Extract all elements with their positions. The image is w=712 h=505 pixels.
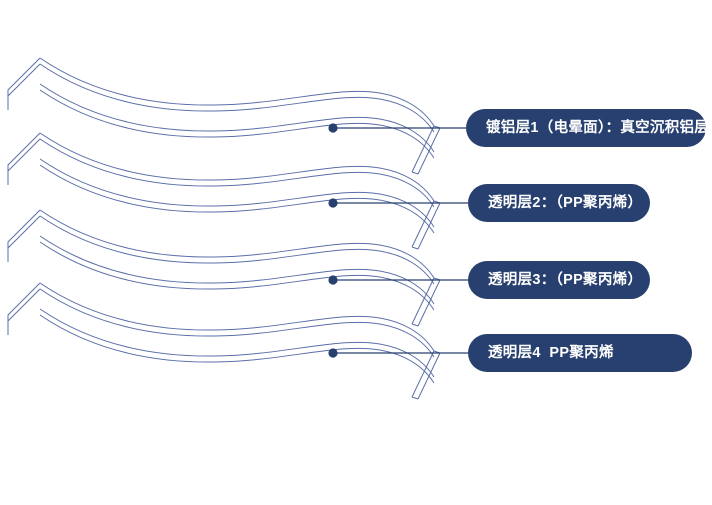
layer-label-1-text: 镀铝层1（电晕面）：真空沉积铝层: [486, 121, 709, 136]
layer-sheet-3: [8, 210, 440, 326]
connector-dot-1[interactable]: [328, 123, 337, 132]
connector-dot-4[interactable]: [328, 348, 337, 357]
layer-stack-illustration: [0, 0, 712, 505]
layer-label-2-text: 透明层2：（PP聚丙烯）: [488, 196, 642, 211]
layer-sheet-2: [8, 133, 440, 249]
layer-sheet-1: [8, 58, 440, 174]
layer-label-2[interactable]: 透明层2：（PP聚丙烯）: [468, 184, 650, 222]
layer-label-4[interactable]: 透明层4 PP聚丙烯: [468, 334, 692, 372]
layer-label-3-text: 透明层3：（PP聚丙烯）: [488, 273, 642, 288]
layer-label-1[interactable]: 镀铝层1（电晕面）：真空沉积铝层: [466, 109, 706, 147]
layer-label-3[interactable]: 透明层3：（PP聚丙烯）: [468, 261, 650, 299]
layer-label-4-text: 透明层4 PP聚丙烯: [488, 346, 614, 361]
diagram-canvas: 镀铝层1（电晕面）：真空沉积铝层 透明层2：（PP聚丙烯） 透明层3：（PP聚丙…: [0, 0, 712, 505]
connector-dot-2[interactable]: [328, 198, 337, 207]
connector-dot-3[interactable]: [328, 275, 337, 284]
layer-sheet-4: [8, 283, 440, 399]
